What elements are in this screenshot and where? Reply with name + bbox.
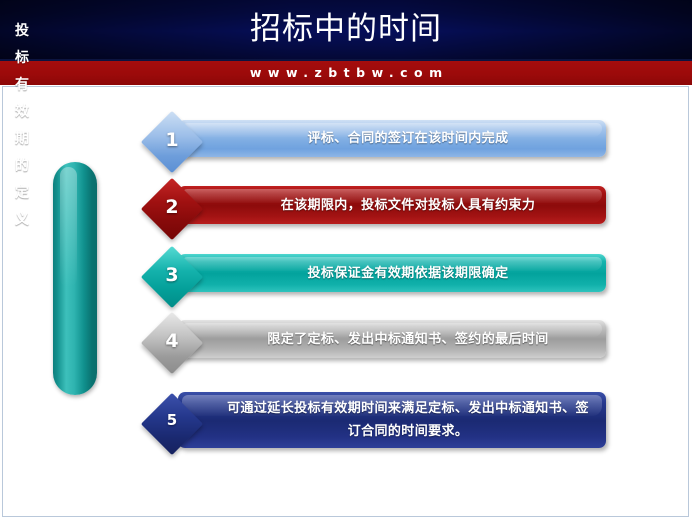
row-number: 2: [150, 196, 194, 218]
sidebar-pill: [53, 162, 97, 395]
sidebar-label-char: 效: [0, 99, 44, 126]
sidebar-label-char: 义: [0, 207, 44, 234]
row-number: 1: [150, 129, 194, 151]
row-bar: 可通过延长投标有效期时间来满足定标、发出中标通知书、签订合同的时间要求。: [178, 392, 606, 448]
row-bar: 限定了定标、发出中标通知书、签约的最后时间: [178, 320, 606, 358]
row-number: 5: [150, 411, 194, 429]
sidebar-pill-label: 投 标 有 效 期 的 定 义: [0, 18, 44, 234]
row-bar: 投标保证金有效期依据该期限确定: [178, 254, 606, 292]
sidebar-label-char: 的: [0, 153, 44, 180]
row-text: 限定了定标、发出中标通知书、签约的最后时间: [224, 320, 592, 358]
sidebar-label-char: 定: [0, 180, 44, 207]
row-number: 4: [150, 330, 194, 352]
row-bar: 在该期限内，投标文件对投标人具有约束力: [178, 186, 606, 224]
sidebar-label-char: 投: [0, 18, 44, 45]
row-text: 在该期限内，投标文件对投标人具有约束力: [224, 186, 592, 224]
slide-root: 招标中的时间 www.zbtbw.com 投 标 有 效 期 的 定 义 评标、…: [0, 0, 692, 520]
row-bar: 评标、合同的签订在该时间内完成: [178, 120, 606, 157]
page-title: 招标中的时间: [0, 6, 692, 52]
sidebar-label-char: 有: [0, 72, 44, 99]
row-text: 可通过延长投标有效期时间来满足定标、发出中标通知书、签订合同的时间要求。: [224, 392, 592, 448]
row-number: 3: [150, 264, 194, 286]
sidebar-label-char: 期: [0, 126, 44, 153]
row-text: 投标保证金有效期依据该期限确定: [224, 254, 592, 292]
sidebar-label-char: 标: [0, 45, 44, 72]
row-text: 评标、合同的签订在该时间内完成: [224, 120, 592, 157]
site-url: www.zbtbw.com: [0, 61, 692, 85]
pill-gloss: [60, 167, 77, 287]
